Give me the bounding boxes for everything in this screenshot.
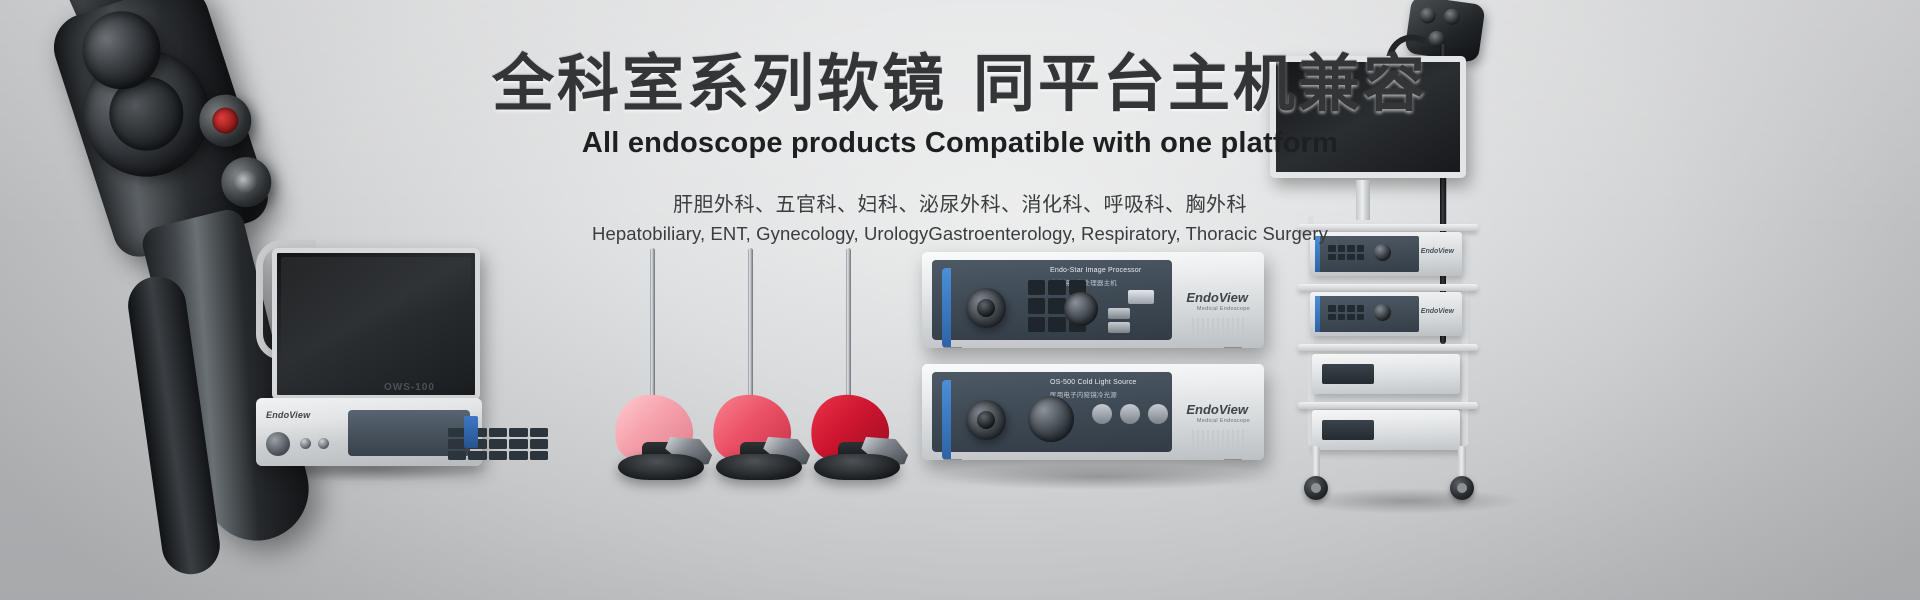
workstation-accent-stripe <box>464 416 478 448</box>
processor-button-a <box>1108 308 1130 319</box>
banner-title-chinese: 全科室系列软镜同平台主机兼容 <box>0 52 1920 119</box>
light-source-button-c <box>1148 404 1168 424</box>
light-source-foot-right <box>1224 459 1242 460</box>
light-source-vent-grille <box>1192 430 1246 450</box>
cart-drawer-2 <box>1312 410 1460 450</box>
processor-foot-left <box>944 347 962 348</box>
processor-secondary-knob <box>1064 292 1098 326</box>
light-source-front-panel: OS-500 Cold Light Source 医用电子内窥镜冷光源 <box>932 372 1172 452</box>
workstation-port-1 <box>300 438 311 449</box>
workstation-model-label: OWS-100 <box>384 382 435 393</box>
processor-button-b <box>1108 322 1130 333</box>
cart-shelf-2 <box>1298 284 1478 291</box>
cart-unit-2-accent <box>1315 296 1320 332</box>
forceps-shaft <box>748 248 753 412</box>
light-source-brand-label: EndoView <box>1186 402 1248 417</box>
processor-usb-port <box>1128 290 1154 304</box>
processor-main-knob <box>966 288 1006 328</box>
banner-title-english: All endoscope products Compatible with o… <box>0 127 1920 160</box>
light-source-main-knob <box>966 400 1006 440</box>
light-source-title-english: OS-500 Cold Light Source <box>1050 379 1137 386</box>
cart-unit-2-brand: EndoView <box>1421 308 1454 315</box>
light-source-brand-sub-label: Medical Endoscope <box>1197 418 1250 424</box>
workstation-base: OWS-100 EndoView <box>256 398 482 466</box>
workstation-keypad <box>448 428 548 460</box>
forceps-stand-base <box>814 454 900 480</box>
workstation-display-screen <box>272 248 480 400</box>
banner-subtitle-english: Hepatobiliary, ENT, Gynecology, UrologyG… <box>0 223 1920 245</box>
processor-front-panel: Endo-Star Image Processor 内窥镜图像处理器主机 <box>932 260 1172 340</box>
cart-unit-1-buttons <box>1328 245 1364 260</box>
banner-title-chinese-part2: 同平台主机兼容 <box>973 50 1428 119</box>
workstation-brand-label: EndoView <box>266 410 310 420</box>
light-source-foot-left <box>944 459 962 460</box>
light-source-brightness-knob <box>1028 396 1074 442</box>
processor-brand-label: EndoView <box>1186 290 1248 305</box>
cart-caster-left <box>1304 476 1328 500</box>
workstation-knob <box>266 432 290 456</box>
forceps-shaft <box>650 248 655 412</box>
cart-unit-1-brand: EndoView <box>1421 248 1454 255</box>
banner-title-chinese-part1: 全科室系列软镜 <box>492 50 947 119</box>
cart-unit-1-knob <box>1374 244 1391 261</box>
image-processor-unit: Endo-Star Image Processor 内窥镜图像处理器主机 End… <box>922 252 1264 348</box>
processor-stack: Endo-Star Image Processor 内窥镜图像处理器主机 End… <box>922 252 1270 468</box>
cart-unit-2-buttons <box>1328 305 1364 320</box>
processor-title-english: Endo-Star Image Processor <box>1050 267 1141 274</box>
light-source-accent-stripe <box>942 380 951 460</box>
workstation-port-2 <box>318 438 329 449</box>
cold-light-source-unit: OS-500 Cold Light Source 医用电子内窥镜冷光源 Endo… <box>922 364 1264 460</box>
cart-unit-2-knob <box>1374 304 1391 321</box>
endoscopy-workstation: OWS-100 EndoView <box>238 248 486 470</box>
processor-foot-right <box>1224 347 1242 348</box>
cart-shelf-4 <box>1298 402 1478 409</box>
cart-shelf-3 <box>1298 344 1478 351</box>
processor-brand-sub-label: Medical Endoscope <box>1197 306 1250 312</box>
cart-caster-right <box>1450 476 1474 500</box>
light-source-button-b <box>1120 404 1140 424</box>
cart-unit-2: EndoView <box>1310 292 1462 336</box>
processor-accent-stripe <box>942 268 951 348</box>
product-banner: 全科室系列软镜同平台主机兼容 All endoscope products Co… <box>0 0 1920 600</box>
processor-vent-grille <box>1192 318 1246 338</box>
light-source-button-a <box>1092 404 1112 424</box>
workstation-control-panel <box>348 410 470 456</box>
cart-drawer-1 <box>1312 354 1460 394</box>
forceps-shaft <box>846 248 851 412</box>
banner-subtitle-chinese: 肝胆外科、五官科、妇科、泌尿外科、消化科、呼吸科、胸外科 <box>0 188 1920 217</box>
banner-text-block: 全科室系列软镜同平台主机兼容 All endoscope products Co… <box>0 52 1920 245</box>
